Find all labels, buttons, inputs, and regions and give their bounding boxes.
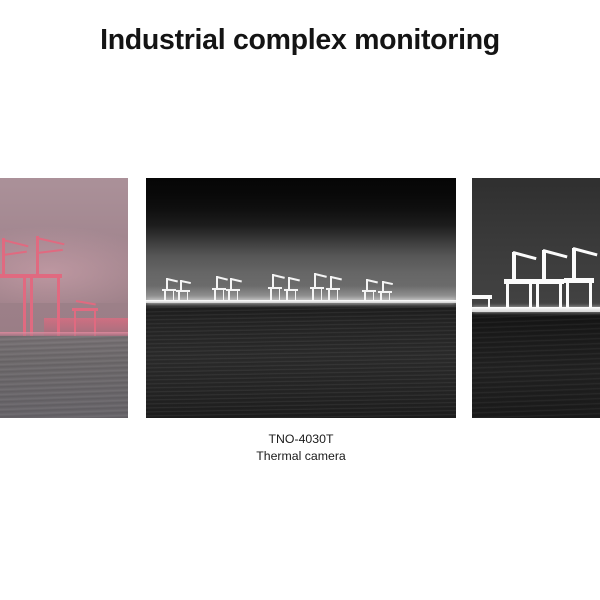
crane-beam <box>72 308 98 311</box>
crane <box>28 236 62 336</box>
card-caption-center: TNO-4030T Thermal camera <box>146 431 456 465</box>
crane <box>212 275 226 303</box>
carousel-card-center[interactable]: TNO-4030T Thermal camera <box>146 178 456 465</box>
crane-boom <box>181 280 191 284</box>
crane-mast <box>36 236 39 278</box>
carousel-card-right[interactable]: T The <box>472 178 600 465</box>
crane-beam <box>564 278 594 283</box>
crane-mast <box>542 250 546 282</box>
page-title: Industrial complex monitoring <box>0 24 600 57</box>
dock-line <box>146 300 456 303</box>
thermal-image-dark[interactable] <box>472 178 600 418</box>
crane-boom <box>331 276 342 280</box>
crane-boom <box>383 281 393 285</box>
crane-beam <box>28 274 62 278</box>
camera-model: T <box>472 431 600 448</box>
crane <box>564 242 594 312</box>
crane-leg <box>23 276 26 336</box>
crane <box>268 273 282 303</box>
crane-beam <box>162 289 176 291</box>
crane-beam <box>176 290 190 292</box>
image-carousel[interactable]: TNO-4030T Thermal camera <box>0 178 600 478</box>
crane-row <box>146 269 456 303</box>
scene-port-grayscale <box>146 178 456 418</box>
card-caption-right: T The <box>472 431 600 465</box>
camera-model: TNO-4030T <box>146 431 456 448</box>
crane-beam <box>534 279 564 284</box>
crane-boom-lower <box>3 251 27 256</box>
water-layer <box>472 312 600 418</box>
crane-leg <box>30 276 33 336</box>
crane <box>534 244 564 312</box>
scene-port-dark <box>472 178 600 418</box>
crane-boom <box>289 277 300 281</box>
water-layer <box>0 336 128 418</box>
dock-line <box>0 332 128 336</box>
crane-boom <box>367 279 378 283</box>
product-gallery-page: Industrial complex monitoring <box>0 0 600 600</box>
crane <box>284 276 298 303</box>
crane-row <box>0 232 128 336</box>
crane-mast <box>572 248 576 281</box>
carousel-card-left[interactable] <box>0 178 128 431</box>
dock-line <box>472 307 600 312</box>
crane-beam <box>362 290 376 292</box>
crane <box>504 246 534 312</box>
crane <box>310 272 324 303</box>
crane-row <box>472 234 600 312</box>
crane <box>72 290 98 336</box>
crane-beam <box>284 289 298 291</box>
crane-beam <box>378 291 392 293</box>
camera-type: Thermal camera <box>146 448 456 465</box>
crane-beam <box>268 287 282 289</box>
crane <box>326 275 340 303</box>
crane-mast <box>2 238 5 278</box>
camera-type: The <box>472 448 600 465</box>
crane-mast <box>512 252 516 282</box>
crane-boom <box>76 300 96 305</box>
crane-boom <box>3 239 29 247</box>
water-ripples <box>472 312 600 418</box>
crane-beam <box>326 288 340 290</box>
crane-beam <box>310 287 324 289</box>
crane-leg <box>57 276 60 336</box>
water-ripples <box>146 303 456 418</box>
crane-boom <box>513 251 537 260</box>
crane-boom-lower <box>37 249 63 254</box>
thermal-image-pink[interactable] <box>0 178 128 418</box>
crane-boom <box>231 278 242 282</box>
crane-beam <box>212 288 226 290</box>
crane-boom <box>37 237 65 245</box>
crane-beam <box>504 279 534 284</box>
water-ripples <box>0 336 128 418</box>
scene-port-pink <box>0 178 128 418</box>
crane-beam <box>226 289 240 291</box>
water-layer <box>146 303 456 418</box>
thermal-image-grayscale[interactable] <box>146 178 456 418</box>
crane-boom <box>573 247 598 256</box>
crane-beam <box>472 295 492 299</box>
crane <box>0 236 28 336</box>
